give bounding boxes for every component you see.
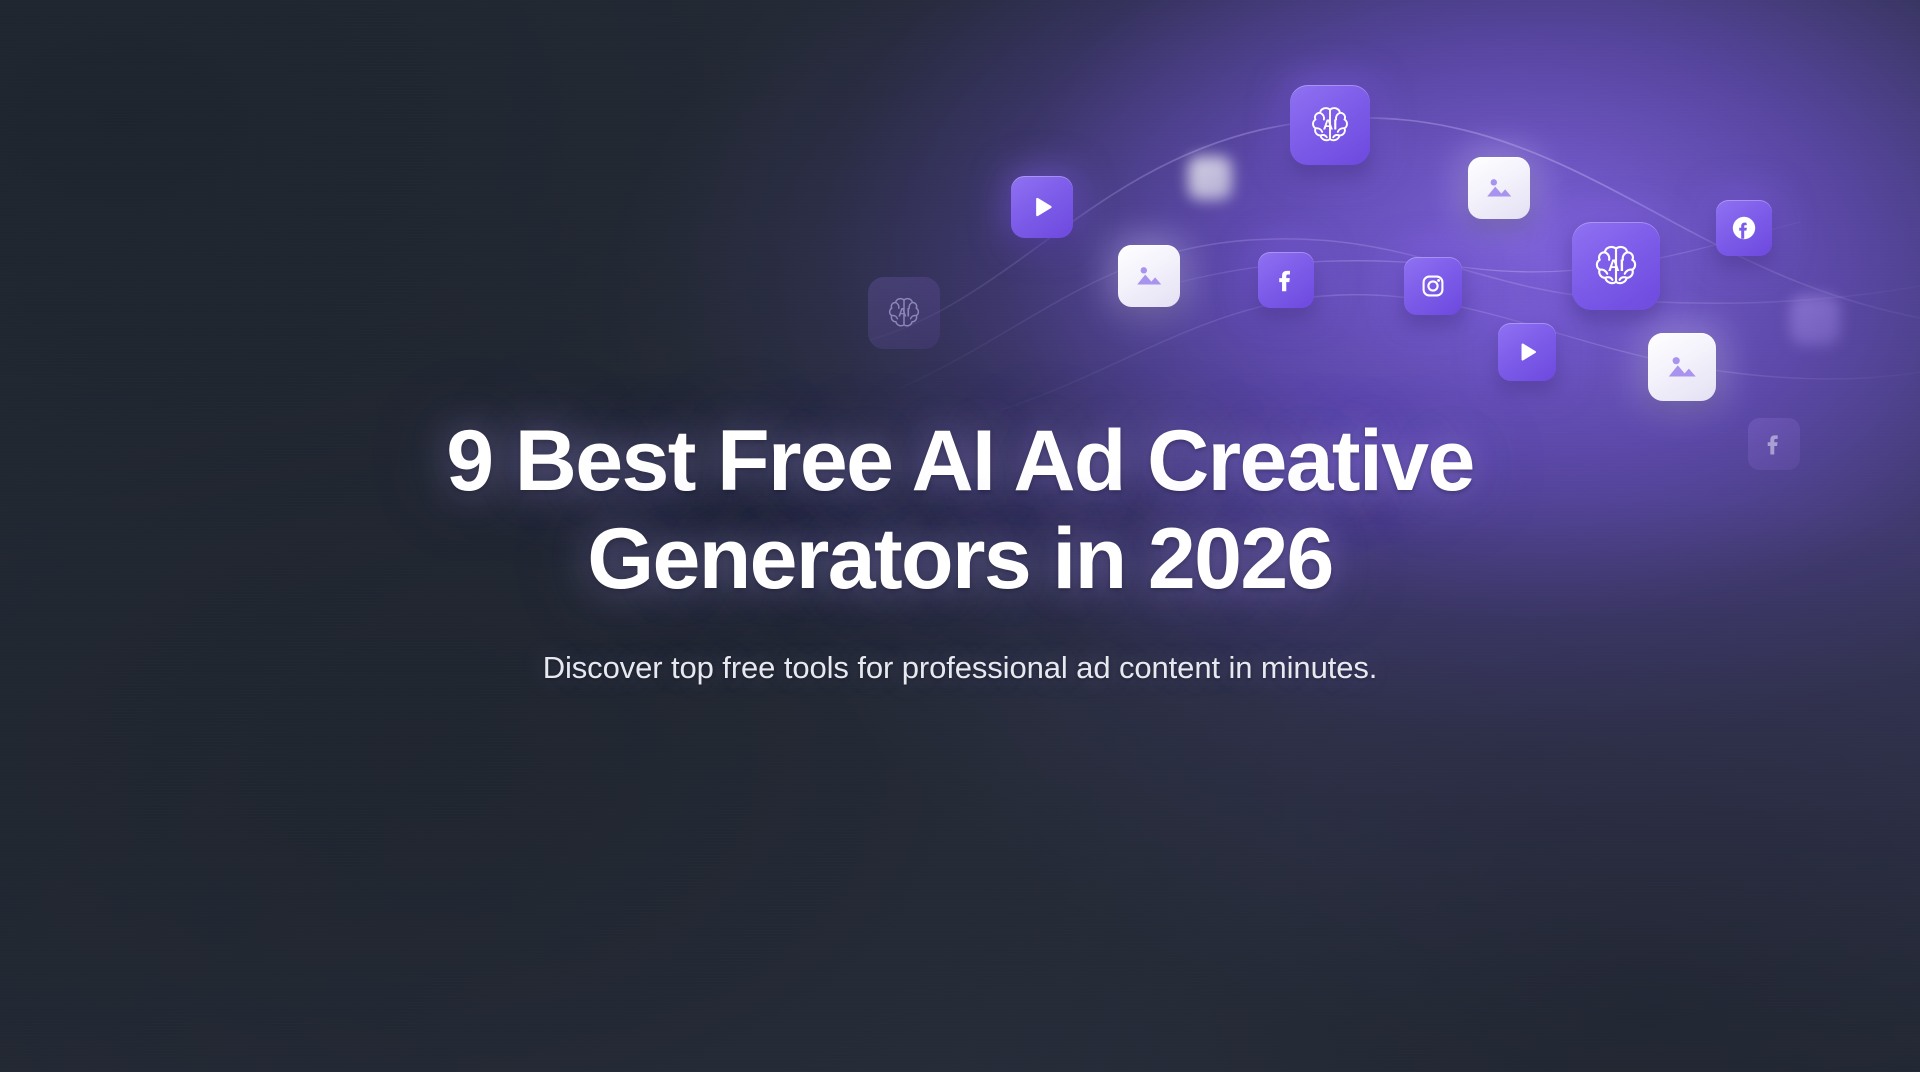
ai-brain-icon: AI <box>1572 222 1660 310</box>
play-icon <box>1011 176 1073 238</box>
hero-banner: AI <box>0 0 1920 1072</box>
ai-brain-icon: AI <box>1290 85 1370 165</box>
svg-text:AI: AI <box>898 306 910 320</box>
hero-copy: 9 Best Free AI Ad Creative Generators in… <box>0 412 1920 686</box>
page-title: 9 Best Free AI Ad Creative Generators in… <box>0 412 1920 608</box>
placeholder-square-icon <box>1188 156 1232 200</box>
page-title-line-1: 9 Best Free AI Ad Creative <box>0 412 1920 510</box>
image-icon <box>1648 333 1716 401</box>
facebook-icon <box>1258 252 1314 308</box>
play-icon <box>1498 323 1556 381</box>
page-subtitle: Discover top free tools for professional… <box>0 650 1920 686</box>
image-icon <box>1468 157 1530 219</box>
svg-text:AI: AI <box>1323 117 1338 133</box>
placeholder-square-icon <box>1790 295 1840 345</box>
image-icon <box>1118 245 1180 307</box>
facebook-circle-icon <box>1716 200 1772 256</box>
instagram-icon <box>1404 257 1462 315</box>
ai-brain-icon: AI <box>868 277 940 349</box>
page-title-line-2: Generators in 2026 <box>0 510 1920 608</box>
svg-text:AI: AI <box>1608 257 1624 275</box>
